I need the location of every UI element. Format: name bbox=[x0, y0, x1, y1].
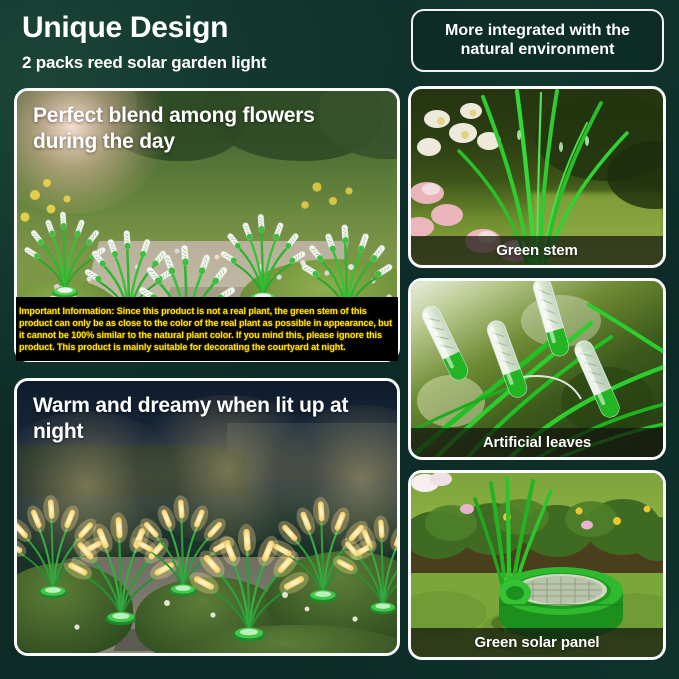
callout-box: More integrated with the natural environ… bbox=[411, 9, 664, 72]
green-solar-panel-panel: Green solar panel bbox=[408, 470, 666, 660]
page-title: Unique Design bbox=[22, 13, 228, 43]
green-stem-caption: Green stem bbox=[496, 242, 578, 259]
night-garden-photo: Warm and dreamy when lit up at night bbox=[17, 381, 397, 653]
important-information-text: Important Information: Since this produc… bbox=[16, 305, 398, 354]
green-solar-panel-caption-bar: Green solar panel bbox=[411, 628, 663, 657]
day-overlay-heading: Perfect blend among flowers during the d… bbox=[33, 103, 379, 154]
infographic-stage: Unique Design 2 packs reed solar garden … bbox=[0, 0, 679, 679]
callout-text: More integrated with the natural environ… bbox=[421, 22, 654, 60]
artificial-leaves-panel: Artificial leaves bbox=[408, 278, 666, 460]
green-stem-caption-bar: Green stem bbox=[411, 236, 663, 265]
important-information-band: Important Information: Since this produc… bbox=[16, 297, 398, 361]
green-stem-panel: Green stem bbox=[408, 86, 666, 268]
night-garden-panel: Warm and dreamy when lit up at night bbox=[14, 378, 400, 656]
green-stem-photo: Green stem bbox=[411, 89, 663, 265]
night-overlay-heading: Warm and dreamy when lit up at night bbox=[33, 393, 379, 444]
page-subtitle: 2 packs reed solar garden light bbox=[22, 54, 266, 71]
artificial-leaves-photo: Artificial leaves bbox=[411, 281, 663, 457]
artificial-leaves-caption: Artificial leaves bbox=[483, 434, 591, 451]
artificial-leaves-caption-bar: Artificial leaves bbox=[411, 428, 663, 457]
green-solar-panel-caption: Green solar panel bbox=[474, 634, 599, 651]
green-solar-panel-photo: Green solar panel bbox=[411, 473, 663, 657]
